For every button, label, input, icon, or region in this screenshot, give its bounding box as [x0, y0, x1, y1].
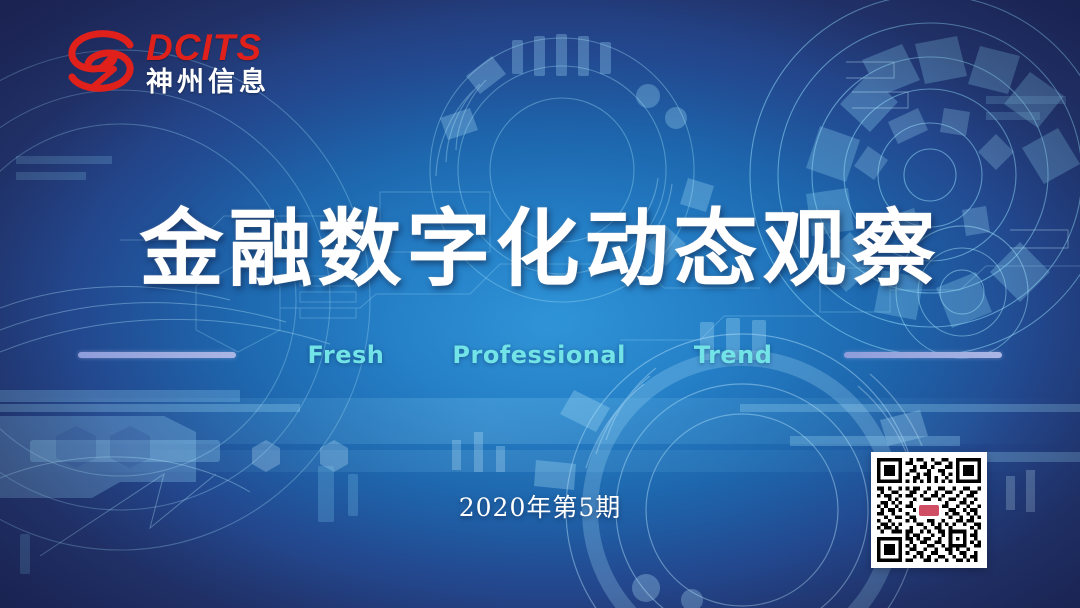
- keyword-trend: Trend: [660, 341, 807, 369]
- brand-name-en: DCITS: [146, 29, 270, 66]
- dcits-spiral-icon: [64, 28, 138, 96]
- keyword-fresh: Fresh: [274, 341, 419, 369]
- qr-center-logo: [916, 501, 942, 519]
- keyword-row: Fresh Professional Trend: [0, 337, 1080, 373]
- brand-name-cn: 神州信息: [146, 69, 270, 96]
- qr-code[interactable]: [871, 452, 987, 568]
- divider-left: [78, 352, 236, 358]
- presentation-cover-slide: DCITS 神州信息 金融数字化动态观察 Fresh Professional …: [0, 0, 1080, 608]
- page-title: 金融数字化动态观察: [0, 182, 1080, 303]
- brand-logo: DCITS 神州信息: [64, 28, 270, 96]
- divider-right: [844, 352, 1002, 358]
- qr-center-logo-mark: [919, 505, 939, 516]
- keyword-professional: Professional: [418, 341, 659, 369]
